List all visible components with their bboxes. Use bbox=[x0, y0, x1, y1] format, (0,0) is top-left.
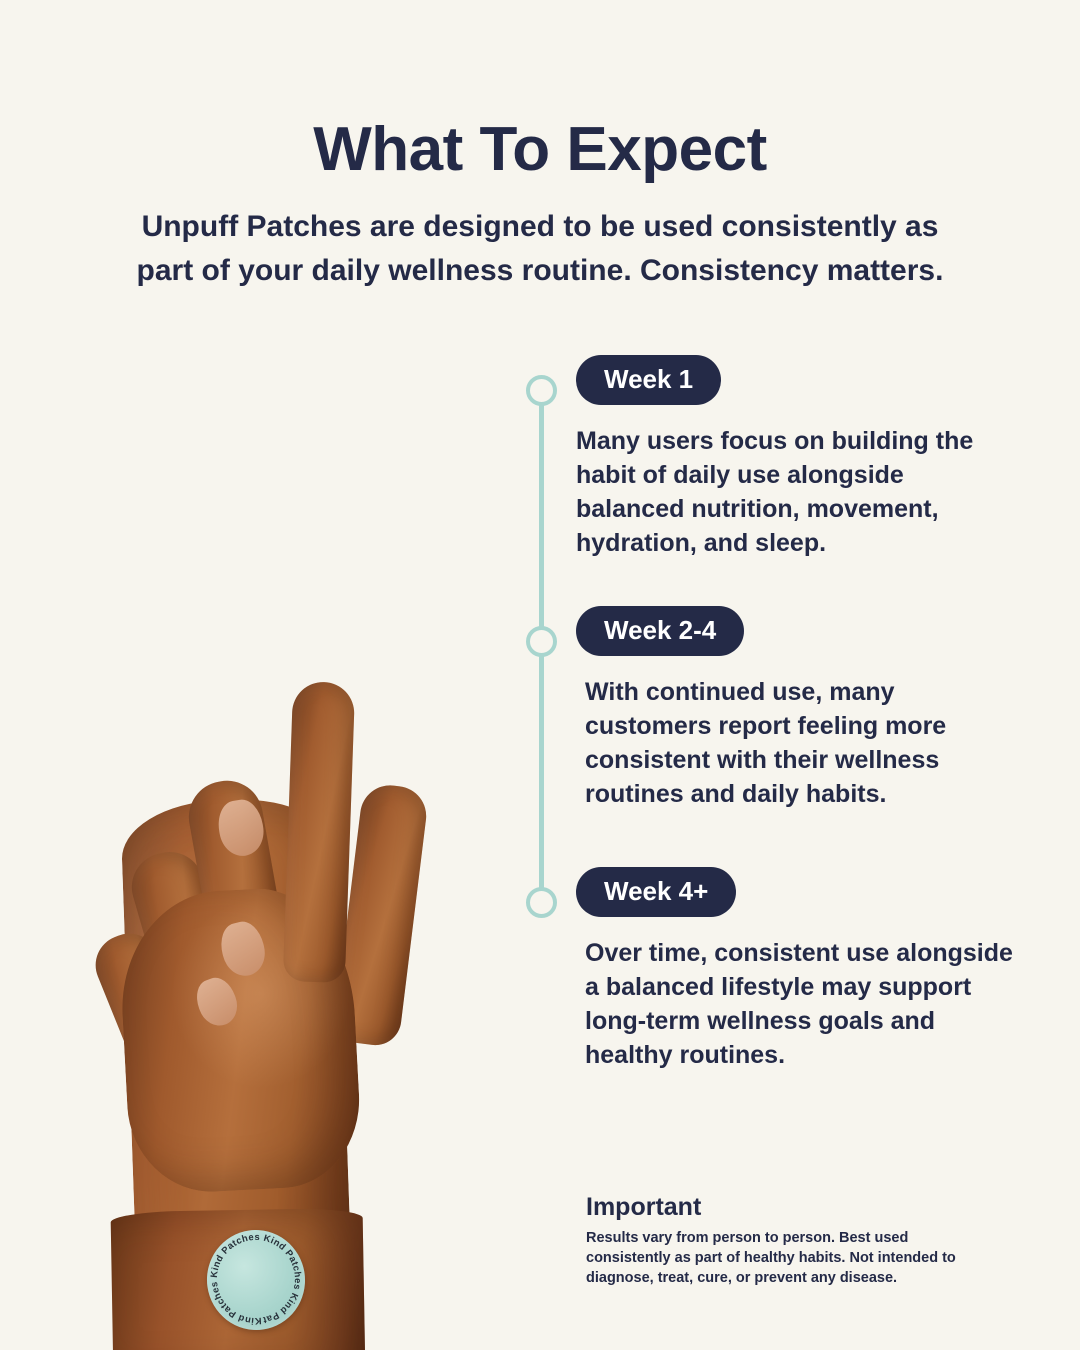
page-subtitle: Unpuff Patches are designed to be used c… bbox=[90, 205, 990, 293]
step-body-week-2-4: With continued use, many customers repor… bbox=[576, 675, 1025, 811]
timeline-step-week-4-plus: Week 4+ Over time, consistent use alongs… bbox=[576, 867, 1036, 1072]
wellness-patch: Kind Patches Kind Patches Kind Patches K… bbox=[201, 1224, 312, 1337]
timeline-step-week-2-4: Week 2-4 With continued use, many custom… bbox=[576, 606, 1036, 811]
timeline-node-week-2-4 bbox=[526, 626, 557, 657]
badge-week-2-4: Week 2-4 bbox=[576, 606, 744, 656]
patch-ring-text: Kind Patches Kind Patches Kind Patches K… bbox=[201, 1224, 311, 1334]
subtitle-line-2: part of your daily wellness routine. Con… bbox=[90, 249, 990, 293]
index-finger-shape bbox=[283, 681, 355, 983]
hand-photo: Kind Patches Kind Patches Kind Patches K… bbox=[0, 330, 500, 1350]
step-body-week-1: Many users focus on building the habit o… bbox=[576, 424, 1016, 560]
timeline-node-week-1 bbox=[526, 375, 557, 406]
important-note-body: Results vary from person to person. Best… bbox=[586, 1228, 986, 1288]
badge-week-4-plus: Week 4+ bbox=[576, 867, 736, 917]
infographic-page: What To Expect Unpuff Patches are design… bbox=[0, 0, 1080, 1350]
subtitle-line-1: Unpuff Patches are designed to be used c… bbox=[142, 210, 939, 243]
timeline-step-week-1: Week 1 Many users focus on building the … bbox=[576, 355, 1036, 560]
page-title: What To Expect bbox=[0, 114, 1080, 186]
important-note: Important Results vary from person to pe… bbox=[586, 1192, 986, 1288]
step-body-week-4-plus: Over time, consistent use alongside a ba… bbox=[576, 936, 1025, 1072]
timeline: Week 1 Many users focus on building the … bbox=[510, 355, 1040, 1145]
timeline-node-week-4-plus bbox=[526, 887, 557, 918]
important-note-title: Important bbox=[586, 1192, 986, 1222]
badge-week-1: Week 1 bbox=[576, 355, 721, 405]
patch-ring-text-icon: Kind Patches Kind Patches Kind Patches K… bbox=[201, 1224, 312, 1337]
